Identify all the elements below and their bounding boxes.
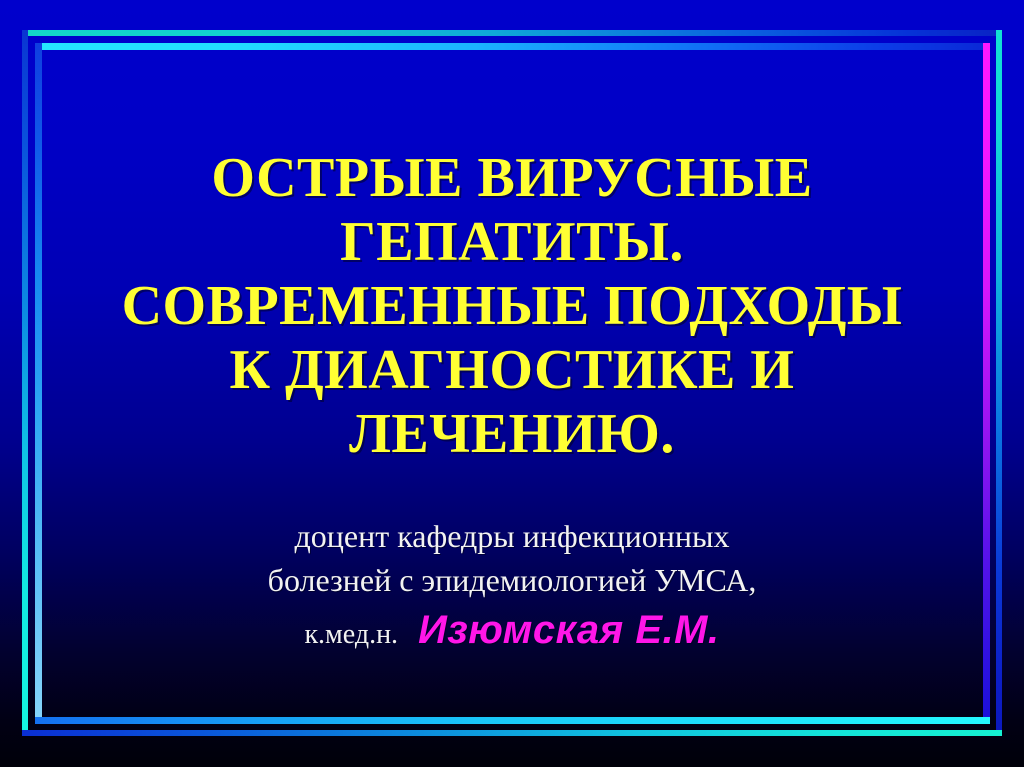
- subtitle-line-1: доцент кафедры инфекционных: [50, 514, 974, 558]
- outer-frame-right-bar: [996, 30, 1002, 736]
- title-line-5: ЛЕЧЕНИЮ.: [50, 402, 974, 466]
- author-byline: к.мед.н. Изюмская Е.М.: [50, 608, 974, 657]
- inner-frame-top-bar: [35, 43, 990, 50]
- outer-frame-top-bar: [22, 30, 1002, 36]
- inner-frame-right-bar: [983, 43, 990, 724]
- academic-degree: к.мед.н.: [304, 619, 398, 650]
- inner-frame-left-bar: [35, 43, 42, 724]
- slide-subtitle: доцент кафедры инфекционных болезней с э…: [50, 514, 974, 657]
- author-name: Изюмская Е.М.: [418, 608, 719, 652]
- presentation-slide: ОСТРЫЕ ВИРУСНЫЕ ГЕПАТИТЫ. СОВРЕМЕННЫЕ ПО…: [0, 0, 1024, 767]
- title-line-2: ГЕПАТИТЫ.: [50, 210, 974, 274]
- title-line-3: СОВРЕМЕННЫЕ ПОДХОДЫ: [50, 274, 974, 338]
- outer-frame-left-bar: [22, 30, 28, 736]
- subtitle-line-2: болезней с эпидемиологией УМСА,: [50, 558, 974, 602]
- inner-frame-bottom-bar: [35, 717, 990, 724]
- slide-title: ОСТРЫЕ ВИРУСНЫЕ ГЕПАТИТЫ. СОВРЕМЕННЫЕ ПО…: [50, 146, 974, 466]
- title-line-1: ОСТРЫЕ ВИРУСНЫЕ: [50, 146, 974, 210]
- title-line-4: К ДИАГНОСТИКЕ И: [50, 338, 974, 402]
- outer-frame-bottom-bar: [22, 730, 1002, 736]
- slide-content: ОСТРЫЕ ВИРУСНЫЕ ГЕПАТИТЫ. СОВРЕМЕННЫЕ ПО…: [50, 50, 974, 717]
